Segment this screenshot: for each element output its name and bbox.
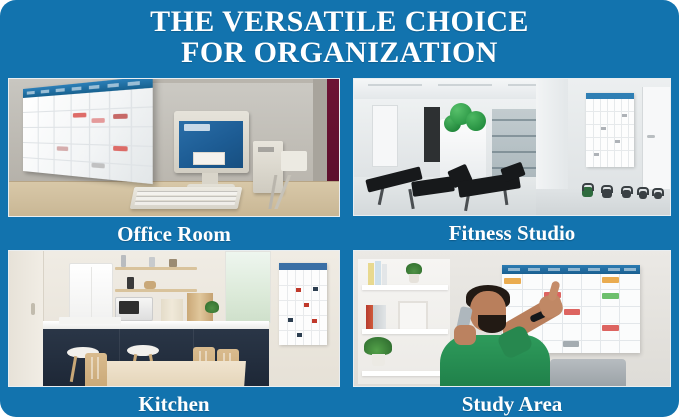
sink [59,317,121,324]
office-room-photo [8,78,340,217]
kettlebell [654,192,662,199]
kitchen-door [9,251,44,387]
poster: THE VERSATILE CHOICE FOR ORGANIZATION [0,0,679,417]
kettlebell [639,191,647,199]
wall-calendar-kitchen [279,263,327,345]
cubicle-panel-maroon [327,79,340,197]
tower-logo [258,147,274,152]
panel-kitchen: Kitchen [8,250,340,417]
wall-shelf [115,267,197,270]
gym-dark-panel [424,107,440,162]
shelf-item [144,281,156,289]
monitor-screen [179,121,243,168]
panel-caption-office-room: Office Room [8,217,340,249]
keyboard [130,187,243,209]
wall-calendar-gym [586,93,634,167]
calendar-header [502,265,640,274]
tall-cabinet [69,263,113,323]
glass-jars [161,299,183,321]
laptop [550,359,626,387]
book [382,264,387,285]
gym-pillar [536,79,568,201]
fitness-studio-photo [353,78,671,216]
shelf-board [362,285,448,290]
panel-caption-kitchen: Kitchen [8,387,340,417]
screen-sticky-note [193,152,225,165]
panel-office-room: Office Room [8,78,340,248]
door-handle-icon [31,303,35,315]
bookshelf [358,259,450,384]
potted-plant [404,263,424,283]
book-stack [366,305,386,329]
cubicle-panel-gray [313,79,327,195]
shelf-board [362,329,448,334]
page-title: THE VERSATILE CHOICE FOR ORGANIZATION [0,6,679,68]
kitchen-scene [9,251,339,386]
kettlebell [582,187,593,197]
cable-bundle [239,175,309,209]
shelf-item [127,277,134,289]
kitchen-window [225,251,271,323]
shelf-item [169,259,177,267]
panel-grid: Office Room [0,78,679,417]
panel-fitness-studio: Fitness Studio [353,78,671,248]
screen-logo [184,124,210,131]
microwave-window [119,301,139,314]
exercise-ball [466,111,486,131]
picture-frame [398,301,428,331]
dining-table [104,361,246,387]
panel-caption-study-area: Study Area [353,387,671,417]
panel-caption-fitness-studio: Fitness Studio [353,216,671,248]
kitchen-photo [8,250,340,387]
calendar-header [279,263,327,270]
door-handle-icon [647,135,655,138]
kettlebell [622,190,631,198]
book [368,263,374,285]
title-line-2: FOR ORGANIZATION [0,37,679,68]
stool-seat [127,345,159,356]
cabinet-door-split [91,267,92,319]
person-beard [478,315,506,333]
shelf-item [121,255,126,267]
gym-scene [354,79,670,215]
study-area-photo [353,250,671,387]
dining-chair [85,353,107,387]
title-line-1: THE VERSATILE CHOICE [150,5,529,38]
office-scene [9,79,339,216]
shelf-board [362,371,448,376]
wall-calendar-office [23,78,153,184]
potted-plant [364,337,392,367]
book [375,261,381,285]
potted-plant [205,301,219,313]
power-strip [281,151,307,171]
calendar-grid [23,88,153,184]
gym-door [372,105,398,167]
phone-hand [454,325,476,345]
gym-side-door [642,87,671,195]
panel-study-area: Study Area [353,250,671,417]
kettlebell [602,189,612,198]
wall-shelf [115,289,197,292]
shelf-item [149,257,155,267]
study-scene [354,251,670,386]
